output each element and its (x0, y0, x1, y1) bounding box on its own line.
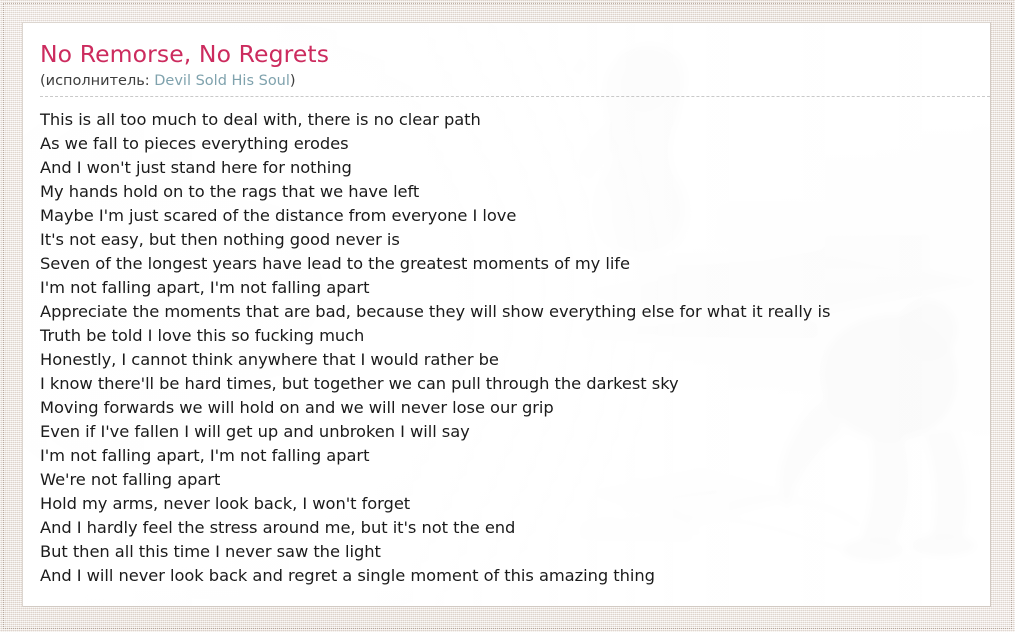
artist-suffix-label: ) (290, 73, 296, 89)
artist-prefix-label: (исполнитель: (40, 73, 154, 89)
lyric-line: And I won't just stand here for nothing (40, 156, 991, 180)
lyrics-content-sheet: No Remorse, No Regrets (исполнитель: Dev… (22, 22, 991, 607)
lyric-line: Moving forwards we will hold on and we w… (40, 396, 991, 420)
lyric-line: But then all this time I never saw the l… (40, 540, 991, 564)
lyric-line: This is all too much to deal with, there… (40, 108, 991, 132)
lyric-line: Truth be told I love this so fucking muc… (40, 324, 991, 348)
lyric-line: And I will never look back and regret a … (40, 564, 991, 588)
lyric-line: We're not falling apart (40, 468, 991, 492)
lyrics-text: This is all too much to deal with, there… (40, 108, 991, 588)
lyric-line: I know there'll be hard times, but toget… (40, 372, 991, 396)
lyric-line: Maybe I'm just scared of the distance fr… (40, 204, 991, 228)
lyric-line: Hold my arms, never look back, I won't f… (40, 492, 991, 516)
lyric-line: As we fall to pieces everything erodes (40, 132, 991, 156)
lyric-line: I'm not falling apart, I'm not falling a… (40, 276, 991, 300)
lyric-line: It's not easy, but then nothing good nev… (40, 228, 991, 252)
page-title: No Remorse, No Regrets (40, 39, 990, 69)
lyric-line: My hands hold on to the rags that we hav… (40, 180, 991, 204)
sheet-inner: No Remorse, No Regrets (исполнитель: Dev… (23, 23, 990, 588)
lyric-line: I'm not falling apart, I'm not falling a… (40, 444, 991, 468)
page-frame: No Remorse, No Regrets (исполнитель: Dev… (0, 0, 1015, 632)
lyric-line: Even if I've fallen I will get up and un… (40, 420, 991, 444)
lyric-line: Seven of the longest years have lead to … (40, 252, 991, 276)
lyric-line: Honestly, I cannot think anywhere that I… (40, 348, 991, 372)
artist-link[interactable]: Devil Sold His Soul (154, 73, 290, 89)
header-divider (40, 96, 990, 97)
lyric-line: Appreciate the moments that are bad, bec… (40, 300, 991, 324)
artist-byline: (исполнитель: Devil Sold His Soul) (40, 71, 990, 91)
lyric-line: And I hardly feel the stress around me, … (40, 516, 991, 540)
